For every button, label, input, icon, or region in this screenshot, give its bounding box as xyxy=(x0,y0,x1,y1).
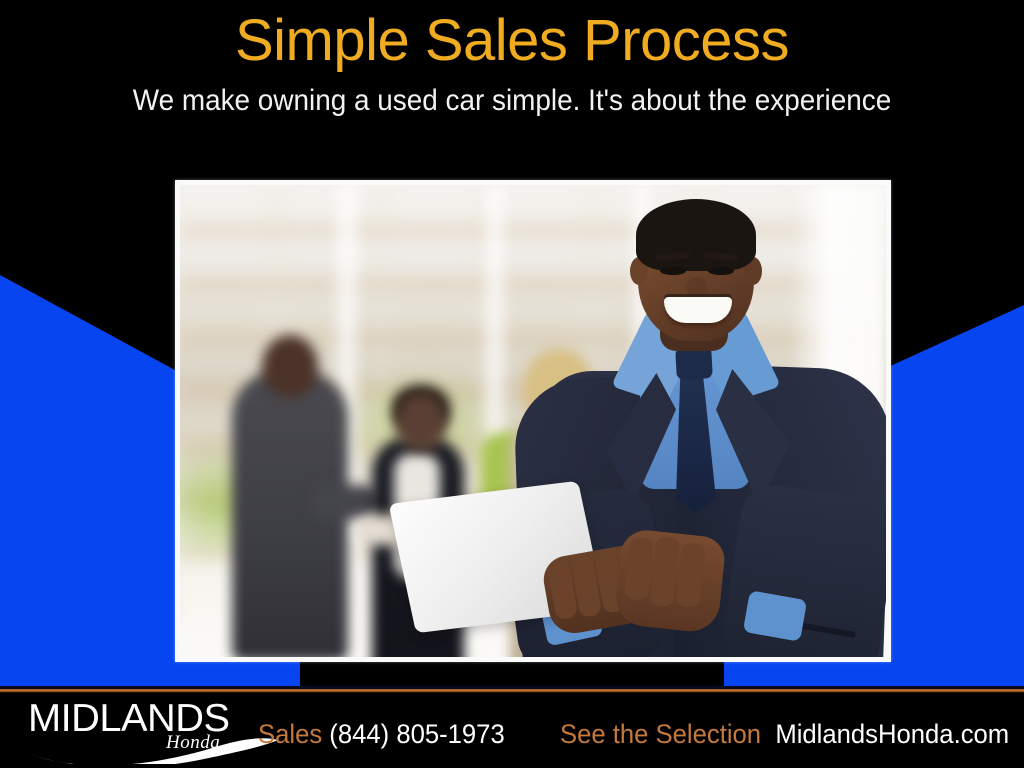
smile xyxy=(664,297,732,323)
background-person-man-head xyxy=(262,335,318,397)
necktie-knot xyxy=(675,346,713,380)
selection-website[interactable]: MidlandsHonda.com xyxy=(775,719,1009,749)
brand-swoosh-icon xyxy=(26,728,286,764)
page-subtitle: We make owning a used car simple. It's a… xyxy=(36,82,988,120)
hair xyxy=(636,199,756,271)
selection-contact[interactable]: See the Selection MidlandsHonda.com xyxy=(560,718,1009,750)
eye-left xyxy=(660,267,686,275)
sales-phone[interactable]: (844) 805-1973 xyxy=(329,719,504,749)
foreground-businessman xyxy=(510,195,886,657)
selection-label: See the Selection xyxy=(560,719,761,749)
background-person-man-arm xyxy=(310,485,380,519)
finger xyxy=(675,542,706,608)
header: Simple Sales Process We make owning a us… xyxy=(0,0,1024,150)
photo-frame xyxy=(175,180,891,662)
footer-divider xyxy=(0,686,1024,694)
sales-label: Sales xyxy=(258,719,322,749)
page-title: Simple Sales Process xyxy=(0,8,1024,74)
hero-photo xyxy=(180,185,886,657)
eye-right xyxy=(708,267,734,275)
slide-canvas: Simple Sales Process We make owning a us… xyxy=(0,0,1024,768)
background-person-woman-dark-head xyxy=(396,393,446,451)
hand-right xyxy=(613,528,726,634)
footer-bar: MIDLANDS Honda Sales (844) 805-1973 See … xyxy=(0,694,1024,768)
nose xyxy=(686,277,708,299)
sales-contact[interactable]: Sales (844) 805-1973 xyxy=(258,718,505,750)
